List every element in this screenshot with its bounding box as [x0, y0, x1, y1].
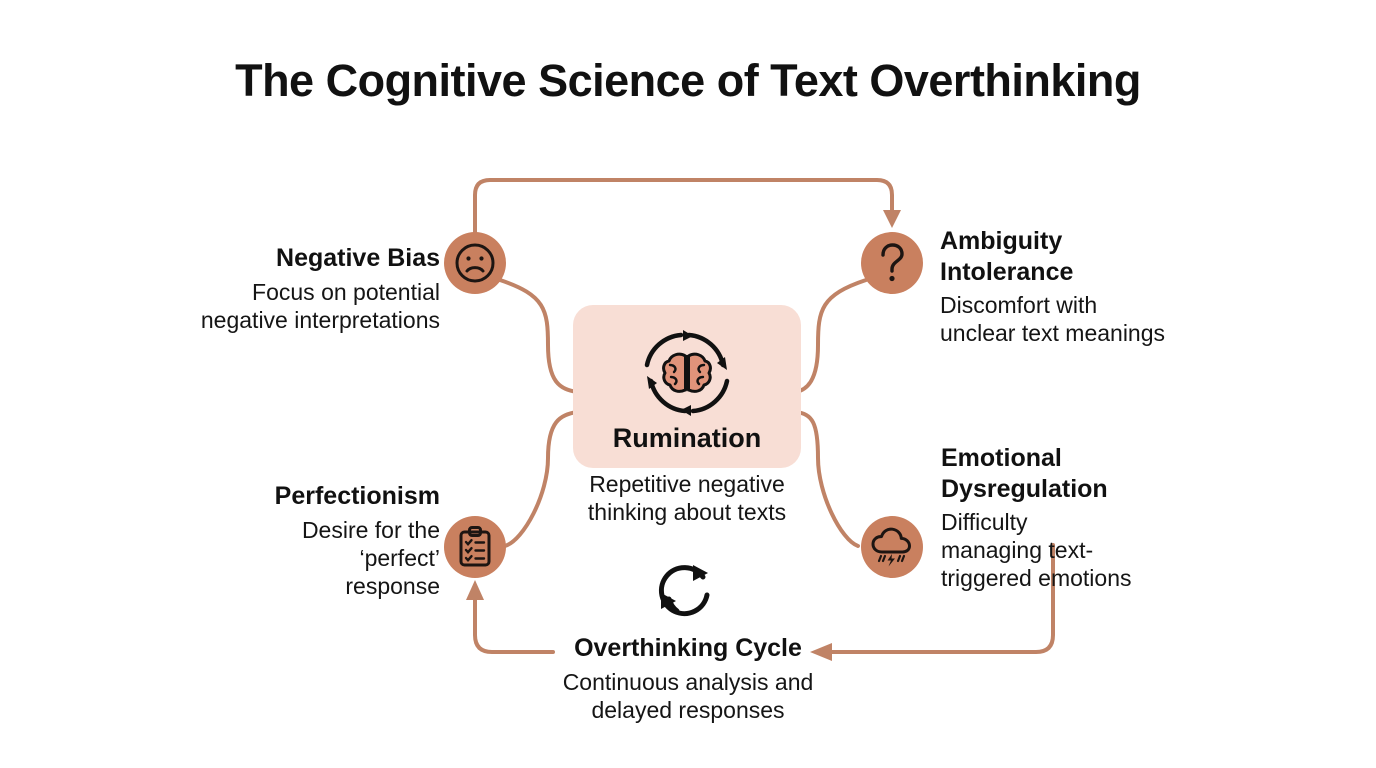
node-title-overthinking-cycle: Overthinking Cycle	[473, 633, 903, 664]
refresh-loop-icon	[655, 559, 721, 623]
node-icon-ambiguity-intolerance[interactable]	[861, 232, 923, 294]
storm-cloud-icon	[870, 526, 914, 568]
question-mark-icon	[873, 242, 911, 284]
node-title-ambiguity-intolerance: Ambiguity Intolerance	[940, 226, 1280, 287]
node-negative-bias: Negative Bias Focus on potential negativ…	[110, 243, 440, 334]
arrowhead-ambiguity	[883, 210, 901, 228]
clipboard-checklist-icon	[456, 526, 494, 568]
node-title-negative-bias: Negative Bias	[110, 243, 440, 274]
node-description-ambiguity-intolerance: Discomfort with unclear text meanings	[940, 291, 1280, 347]
node-icon-emotional-dysregulation[interactable]	[861, 516, 923, 578]
infographic-canvas: The Cognitive Science of Text Overthinki…	[0, 0, 1376, 768]
node-icon-perfectionism[interactable]	[444, 516, 506, 578]
rumination-card[interactable]: Rumination	[573, 305, 801, 468]
arrowhead-perfectionism	[466, 580, 484, 600]
node-icon-negative-bias[interactable]	[444, 232, 506, 294]
node-emotional-dysregulation: Emotional Dysregulation Difficulty manag…	[941, 443, 1271, 592]
node-ambiguity-intolerance: Ambiguity Intolerance Discomfort with un…	[940, 226, 1280, 347]
connector-negative-bias-to-ambiguity	[475, 180, 892, 232]
brain-cycle-icon	[639, 327, 735, 419]
node-description-perfectionism: Desire for the ‘perfect’ response	[110, 516, 440, 600]
page-title: The Cognitive Science of Text Overthinki…	[0, 55, 1376, 107]
rumination-title: Rumination	[573, 423, 801, 454]
node-description-emotional-dysregulation: Difficulty managing text- triggered emot…	[941, 508, 1271, 592]
node-overthinking-cycle: Overthinking Cycle Continuous analysis a…	[473, 633, 903, 724]
rumination-description: Repetitive negative thinking about texts	[541, 470, 833, 526]
node-perfectionism: Perfectionism Desire for the ‘perfect’ r…	[110, 481, 440, 600]
connector-negative-bias-to-rumination	[500, 280, 578, 392]
node-title-perfectionism: Perfectionism	[110, 481, 440, 512]
sad-face-icon	[454, 242, 496, 284]
node-description-negative-bias: Focus on potential negative interpretati…	[110, 278, 440, 334]
node-description-overthinking-cycle: Continuous analysis and delayed response…	[473, 668, 903, 724]
connector-ambiguity-to-rumination	[796, 280, 866, 392]
node-title-emotional-dysregulation: Emotional Dysregulation	[941, 443, 1271, 504]
